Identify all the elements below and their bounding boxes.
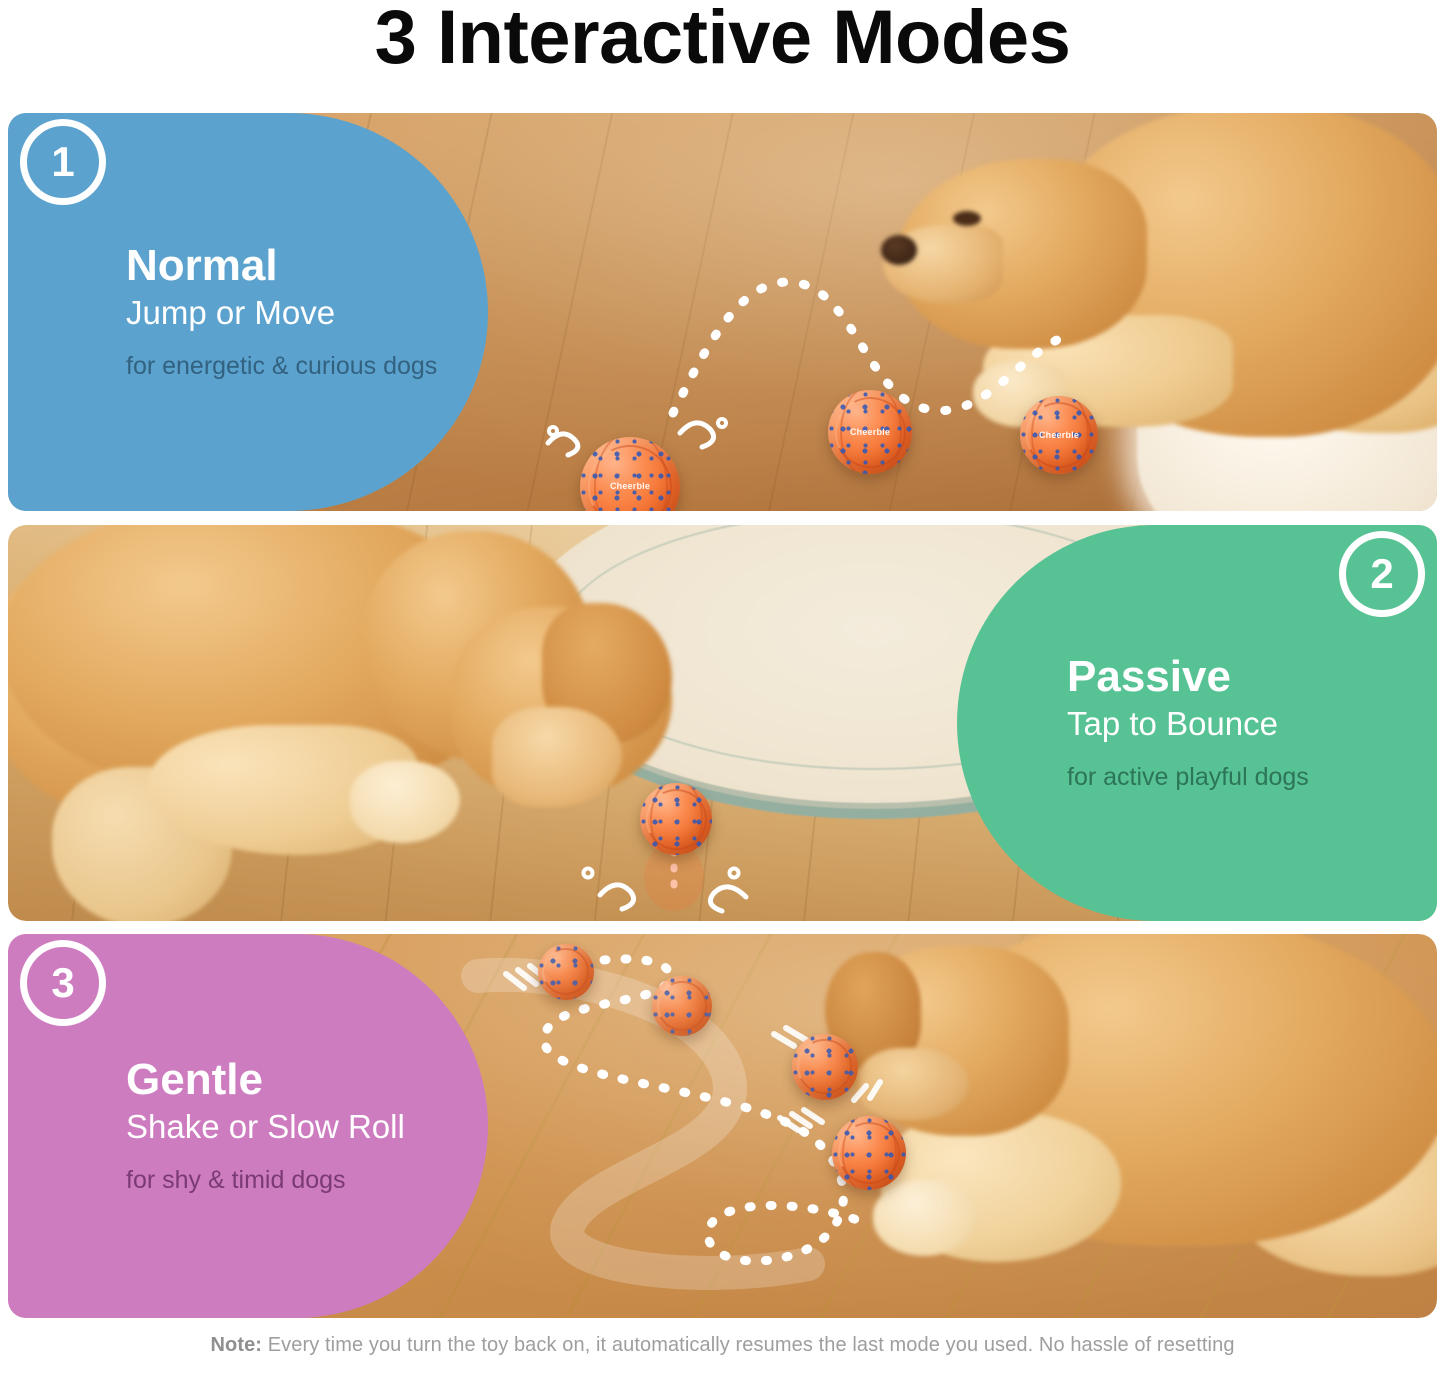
cheerble-ball [792,1034,858,1100]
mode-panel-passive: Passive Tap to Bounce for active playful… [8,525,1437,921]
dog-snout [492,707,622,807]
dog-paw [350,761,460,843]
mode-1-number-badge: 1 [20,119,106,205]
cheerble-ball: Cheerble [1020,396,1098,474]
mode-3-name: Gentle [126,1055,444,1104]
mode-3-audience: for shy & timid dogs [126,1164,444,1197]
mode-3-number-badge: 3 [20,940,106,1026]
mode-3-action: Shake or Slow Roll [126,1107,444,1147]
mode-1-text-block: Normal Jump or Move for energetic & curi… [8,241,488,382]
ball-speckles [832,1116,906,1190]
mode-3-text-block: Gentle Shake or Slow Roll for shy & timi… [8,1055,488,1196]
footer-note: Note: Every time you turn the toy back o… [0,1334,1445,1357]
mode-2-audience: for active playful dogs [1067,761,1377,794]
ball-speckles [652,976,712,1036]
ball-brand-label: Cheerble [828,427,912,437]
dog-snout [859,1048,969,1120]
infographic-page: 3 Interactive Modes [0,0,1445,1378]
mode-2-name: Passive [1067,652,1377,701]
cheerble-ball [652,976,712,1036]
ball-brand-label: Cheerble [580,481,680,491]
mode-1-name: Normal [126,241,444,290]
mode-2-number-badge: 2 [1339,531,1425,617]
mode-1-action: Jump or Move [126,293,444,333]
golden-retriever-dog [839,934,1437,1318]
mode-1-audience: for energetic & curious dogs [126,350,444,383]
note-text: Every time you turn the toy back on, it … [262,1334,1234,1356]
cheerble-ball [832,1116,906,1190]
note-label: Note: [210,1334,262,1356]
golden-retriever-dog [887,113,1437,511]
dog-nose [881,235,917,265]
mode-panel-gentle: Gentle Shake or Slow Roll for shy & timi… [8,934,1437,1318]
page-title: 3 Interactive Modes [0,0,1445,80]
ball-speckles [580,437,680,511]
cheerble-ball [640,783,712,855]
cheerble-ball: Cheerble [580,437,680,511]
ball-brand-label: Cheerble [1020,430,1098,440]
ball-speckles [640,783,712,855]
ball-speckles [538,944,594,1000]
golden-retriever-dog [8,525,742,921]
mode-panel-normal: Cheerble Cheerble Cheerble Normal Jump o… [8,113,1437,511]
mode-2-action: Tap to Bounce [1067,704,1377,744]
mode-2-text-block: Passive Tap to Bounce for active playful… [957,652,1437,793]
cheerble-ball [538,944,594,1000]
dog-eye [953,211,981,226]
ball-speckles [792,1034,858,1100]
dog-paw [873,1180,977,1256]
cheerble-ball: Cheerble [828,390,912,474]
